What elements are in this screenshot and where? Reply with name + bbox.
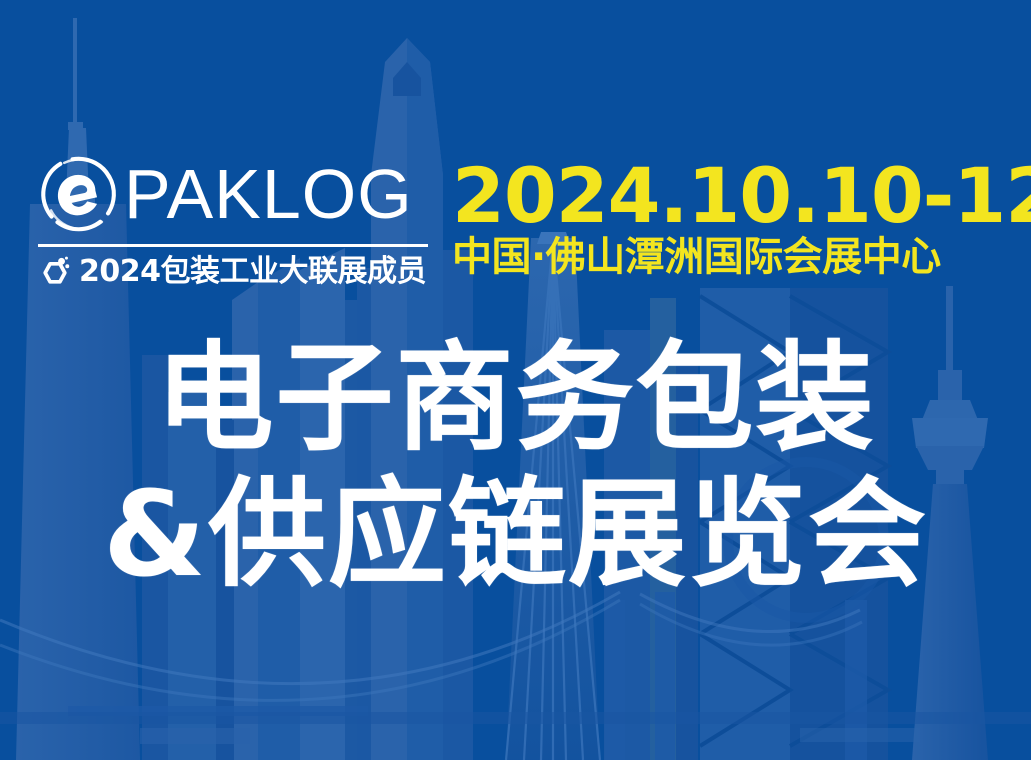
event-date: 2024.10.10-12 (452, 156, 1017, 236)
headline-line-2: &供应链展览会 (0, 466, 1031, 602)
member-badge-row: 2024包装工业大联展成员 (38, 254, 433, 290)
event-date-block: 2024.10.10-12 中国·佛山潭洲国际会展中心 (452, 156, 1017, 280)
logo-row: PAKLOG (38, 148, 433, 240)
hexagon-bubbles-icon (38, 254, 72, 290)
event-poster: PAKLOG 2024包装工业大联展成员 2024.10.10-12 中国·佛山… (0, 0, 1031, 760)
poster-content: PAKLOG 2024包装工业大联展成员 2024.10.10-12 中国·佛山… (0, 0, 1031, 760)
logo-wordmark: PAKLOG (124, 159, 413, 229)
logo-lockup: PAKLOG 2024包装工业大联展成员 (38, 148, 433, 290)
logo-divider (38, 244, 428, 247)
headline-line-1: 电子商务包装 (0, 330, 1031, 466)
member-badge-text: 2024包装工业大联展成员 (79, 255, 426, 289)
poster-headline: 电子商务包装 &供应链展览会 (0, 330, 1031, 602)
paklog-e-brushstroke-logo-icon (38, 153, 120, 235)
event-venue: 中国·佛山潭洲国际会展中心 (452, 234, 1017, 280)
